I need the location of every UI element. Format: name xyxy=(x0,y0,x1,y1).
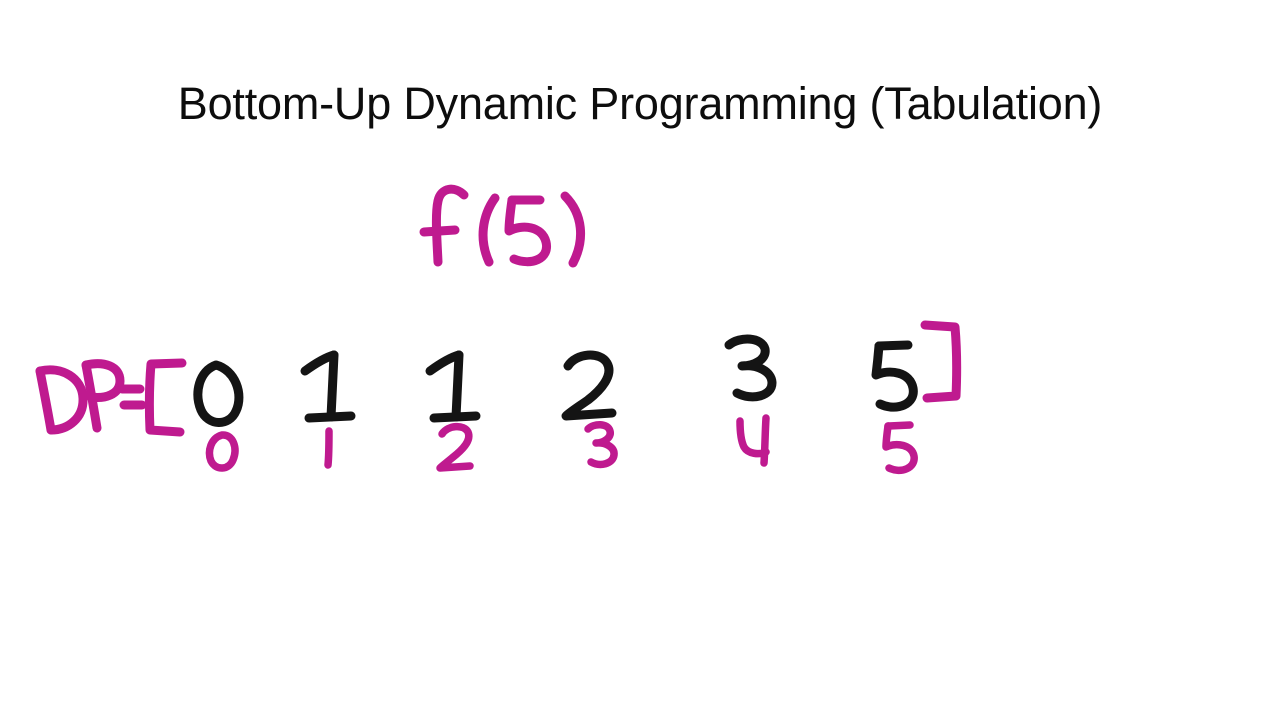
annotation-array-label: DP = xyxy=(0,0,1,1)
annotation-call-expression: f(5) xyxy=(0,0,1,1)
dp-indices xyxy=(209,418,914,470)
dp-index-2 xyxy=(440,427,470,468)
annotation-open-bracket: [ xyxy=(0,0,1,1)
dp-value-text-5: 5 xyxy=(0,0,1,1)
dp-value-text-3: 2 xyxy=(0,0,1,1)
handwritten-open-bracket xyxy=(149,363,182,432)
dp-index-3 xyxy=(588,425,614,465)
dp-value-4 xyxy=(729,339,772,397)
dp-value-text-0: 0 xyxy=(0,0,1,1)
dp-index-text-5: 5 xyxy=(0,0,1,1)
dp-index-text-4: 4 xyxy=(0,0,1,1)
dp-index-text-3: 3 xyxy=(0,0,1,1)
dp-index-text-0: 0 xyxy=(0,0,1,1)
slide-canvas: Bottom-Up Dynamic Programming (Tabulatio… xyxy=(0,0,1280,720)
dp-value-text-4: 3 xyxy=(0,0,1,1)
annotation-close-bracket: ] xyxy=(0,0,1,1)
dp-index-4 xyxy=(740,418,766,463)
handwritten-close-bracket xyxy=(925,325,957,398)
dp-value-text-2: 1 xyxy=(0,0,1,1)
dp-value-2 xyxy=(430,355,476,418)
dp-index-text-1: 1 xyxy=(0,0,1,1)
dp-index-5 xyxy=(886,425,914,470)
dp-index-1 xyxy=(328,431,329,465)
dp-value-text-1: 1 xyxy=(0,0,1,1)
dp-value-3 xyxy=(566,355,612,416)
dp-value-0 xyxy=(198,365,239,423)
dp-index-text-2: 2 xyxy=(0,0,1,1)
page-title: Bottom-Up Dynamic Programming (Tabulatio… xyxy=(0,76,1280,132)
handwritten-call-expression xyxy=(424,189,581,263)
dp-index-0 xyxy=(209,435,234,468)
dp-value-5 xyxy=(876,345,913,407)
dp-values xyxy=(198,339,913,422)
dp-value-1 xyxy=(305,355,351,418)
handwritten-array-label xyxy=(40,364,142,430)
